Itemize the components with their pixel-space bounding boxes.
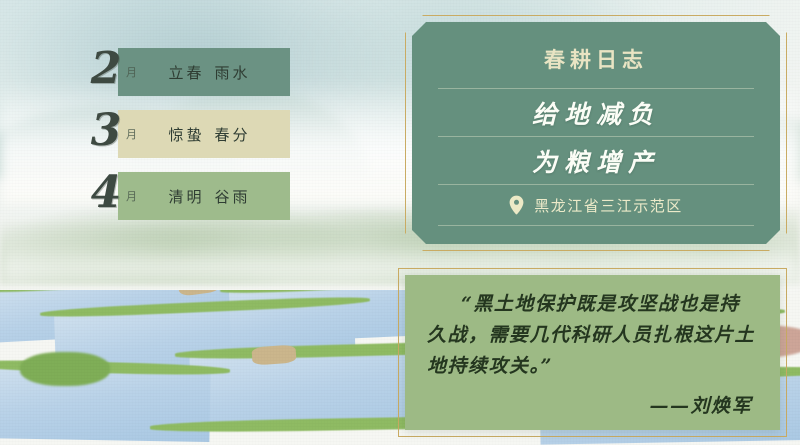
solar-term-a: 清明 xyxy=(168,188,204,206)
solar-terms: 惊蛰春分 xyxy=(137,124,290,145)
calendar-month-number: 4 xyxy=(82,164,128,226)
solar-terms: 清明谷雨 xyxy=(137,186,290,207)
calendar-bar[interactable]: 月 清明谷雨 xyxy=(118,172,290,220)
solar-term-a: 惊蛰 xyxy=(168,126,204,144)
divider-line xyxy=(438,225,754,226)
quote-text: “黑土地保护既是攻坚战也是持久战，需要几代科研人员扎根这片土地持续攻关。” xyxy=(427,289,758,382)
calendar-month-number: 3 xyxy=(82,102,128,164)
calendar-row[interactable]: 2 月 立春雨水 xyxy=(82,48,297,96)
slogan-line-1: 给地减负 xyxy=(436,89,756,136)
location-row: 黑龙江省三江示范区 xyxy=(436,185,756,225)
poster-canvas: 2 月 立春雨水 3 月 惊蛰春分 4 月 清明谷雨 春耕日志 xyxy=(0,0,800,445)
solar-term-b: 谷雨 xyxy=(215,188,251,206)
calendar-row[interactable]: 4 月 清明谷雨 xyxy=(82,172,297,220)
slogan-line-2: 为粮增产 xyxy=(436,137,756,184)
header-card: 春耕日志 给地减负 为粮增产 黑龙江省三江示范区 xyxy=(412,22,780,244)
calendar-bar[interactable]: 月 立春雨水 xyxy=(118,48,290,96)
solar-term-a: 立春 xyxy=(168,64,204,82)
solar-terms: 立春雨水 xyxy=(137,62,290,83)
quote-attribution: ——刘焕军 xyxy=(427,391,758,418)
calendar-row[interactable]: 3 月 惊蛰春分 xyxy=(82,110,297,158)
page-title: 春耕日志 xyxy=(436,44,756,74)
solar-term-b: 春分 xyxy=(215,126,251,144)
map-pin-icon xyxy=(509,195,524,215)
solar-term-b: 雨水 xyxy=(215,64,251,82)
location-text: 黑龙江省三江示范区 xyxy=(534,195,683,216)
calendar-month-number: 2 xyxy=(82,40,128,102)
calendar-bar[interactable]: 月 惊蛰春分 xyxy=(118,110,290,158)
seasonal-calendar: 2 月 立春雨水 3 月 惊蛰春分 4 月 清明谷雨 xyxy=(82,48,297,234)
quote-card: “黑土地保护既是攻坚战也是持久战，需要几代科研人员扎根这片土地持续攻关。” ——… xyxy=(405,275,780,430)
